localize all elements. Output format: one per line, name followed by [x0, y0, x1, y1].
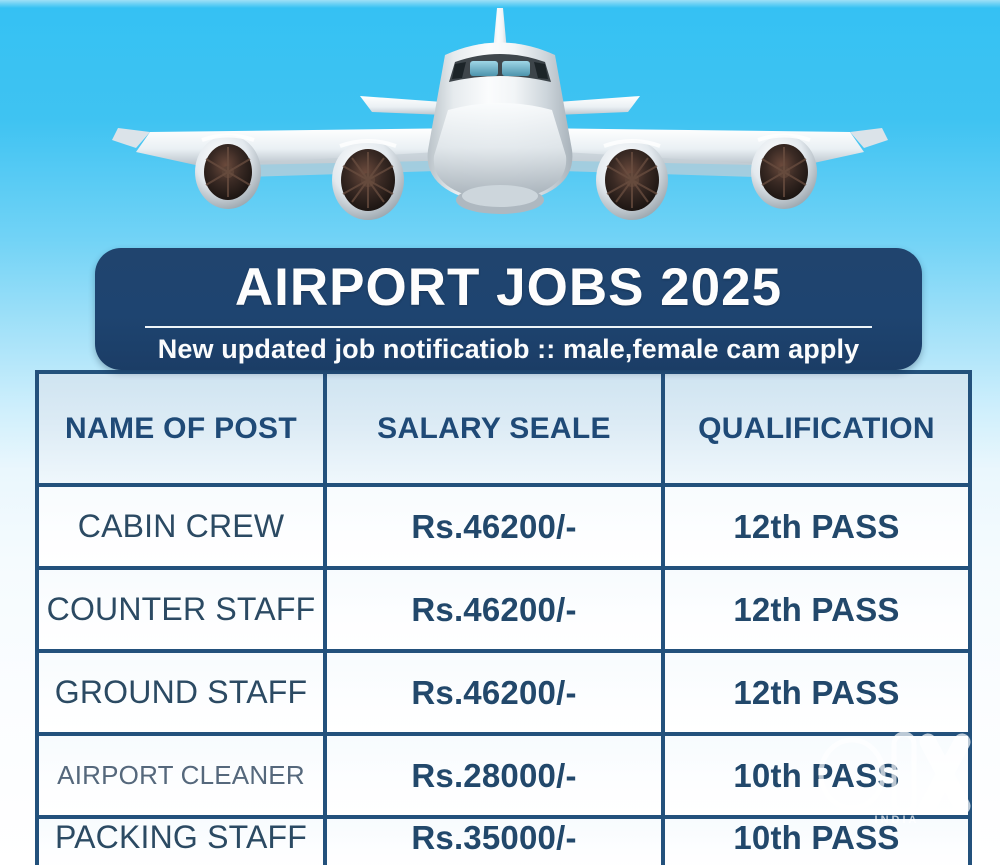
table-row: PACKING STAFF Rs.35000/- 10th PASS: [35, 819, 972, 865]
cell-post: GROUND STAFF: [39, 653, 327, 732]
cell-salary: Rs.35000/-: [327, 819, 665, 865]
cell-salary: Rs.46200/-: [327, 487, 665, 566]
cell-post: AIRPORT CLEANER: [39, 736, 327, 815]
cell-post: CABIN CREW: [39, 487, 327, 566]
table-row: COUNTER STAFF Rs.46200/- 12th PASS: [35, 570, 972, 653]
headline-banner: AIRPORT JOBS 2025 New updated job notifi…: [95, 248, 922, 370]
column-header-salary: SALARY SEALE: [327, 374, 665, 483]
banner-divider: [145, 326, 872, 328]
column-header-post: NAME OF POST: [39, 374, 327, 483]
table-row: AIRPORT CLEANER Rs.28000/- 10th PASS: [35, 736, 972, 819]
cell-salary: Rs.28000/-: [327, 736, 665, 815]
jobs-table: NAME OF POST SALARY SEALE QUALIFICATION …: [35, 370, 972, 865]
cell-qualification: 10th PASS: [665, 736, 968, 815]
cell-salary: Rs.46200/-: [327, 653, 665, 732]
cell-qualification: 12th PASS: [665, 653, 968, 732]
cell-qualification: 12th PASS: [665, 570, 968, 649]
cell-post: COUNTER STAFF: [39, 570, 327, 649]
cell-salary: Rs.46200/-: [327, 570, 665, 649]
poster-subtitle: New updated job notificatiob :: male,fem…: [95, 331, 922, 367]
table-row: GROUND STAFF Rs.46200/- 12th PASS: [35, 653, 972, 736]
poster-title: AIRPORT JOBS 2025: [95, 257, 922, 319]
table-row: CABIN CREW Rs.46200/- 12th PASS: [35, 487, 972, 570]
job-advertisement-poster: AIRPORT JOBS 2025 New updated job notifi…: [0, 0, 1000, 865]
cell-qualification: 10th PASS: [665, 819, 968, 865]
column-header-qualification: QUALIFICATION: [665, 374, 968, 483]
cell-post: PACKING STAFF: [39, 819, 327, 865]
table-header-row: NAME OF POST SALARY SEALE QUALIFICATION: [35, 370, 972, 487]
cell-qualification: 12th PASS: [665, 487, 968, 566]
